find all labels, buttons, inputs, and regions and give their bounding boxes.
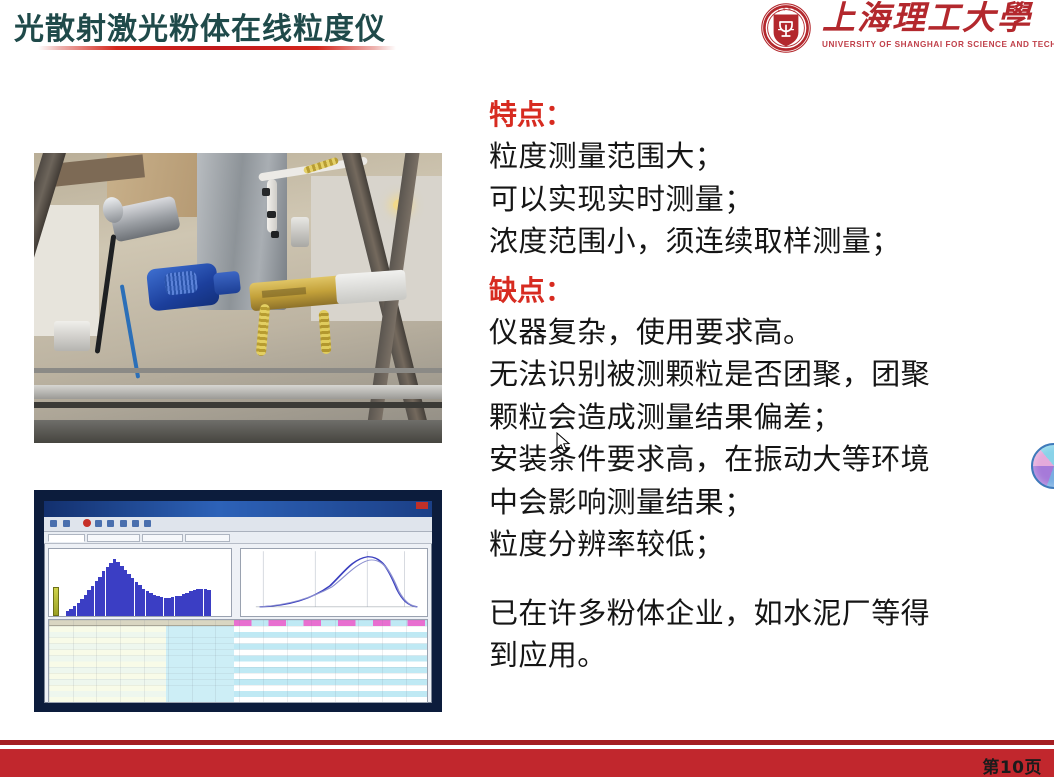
section-features: 特点： 粒度测量范围大； 可以实现实时测量； 浓度范围小，须连续取样测量； — [489, 96, 1037, 264]
section-features-heading: 特点： — [489, 96, 1037, 134]
feature-line-3: 浓度范围小，须连续取样测量； — [489, 221, 1037, 264]
histogram-chart — [48, 548, 232, 617]
svg-text:上: 上 — [777, 7, 780, 12]
page-number: 第10页 — [982, 753, 1042, 777]
section-spacer-2 — [489, 567, 1037, 593]
feature-line-1: 粒度测量范围大； — [489, 136, 1037, 179]
particle-size-software-screenshot — [34, 490, 442, 712]
slide-title: 光散射激光粉体在线粒度仪 — [14, 10, 444, 50]
measurement-data-table — [48, 619, 427, 703]
university-logo: 上海 理工 上海理工大學 UNIVERSITY OF SHANGHAI FOR … — [742, 0, 1054, 58]
section-spacer-1 — [489, 264, 1037, 272]
university-name-cn: 上海理工大學 — [822, 1, 1054, 38]
section-drawbacks-heading: 缺点： — [489, 272, 1037, 310]
footer-bar — [0, 749, 1054, 777]
university-name-en: UNIVERSITY OF SHANGHAI FOR SCIENCE AND T… — [822, 40, 1054, 49]
section-conclusion: 已在许多粉体企业，如水泥厂等得 到应用。 — [489, 593, 1037, 678]
conclusion-line-1: 已在许多粉体企业，如水泥厂等得 — [489, 593, 1037, 636]
section-drawbacks: 缺点： 仪器复杂，使用要求高。 无法识别被测颗粒是否团聚，团聚 颗粒会造成测量结… — [489, 272, 1037, 567]
drawback-line-5: 中会影响测量结果； — [489, 482, 1037, 525]
university-wordmark: 上海理工大學 UNIVERSITY OF SHANGHAI FOR SCIENC… — [822, 1, 1054, 49]
industrial-equipment-photo — [34, 153, 442, 443]
feature-line-2: 可以实现实时测量； — [489, 179, 1037, 222]
svg-text:工: 工 — [793, 8, 796, 12]
title-underline-decoration — [38, 46, 396, 50]
drawback-line-1: 仪器复杂，使用要求高。 — [489, 312, 1037, 355]
drawback-line-3: 颗粒会造成测量结果偏差； — [489, 397, 1037, 440]
content-column: 特点： 粒度测量范围大； 可以实现实时测量； 浓度范围小，须连续取样测量； 缺点… — [489, 96, 1037, 678]
slide-title-banner: 光散射激光粉体在线粒度仪 — [14, 10, 444, 58]
svg-text:理: 理 — [788, 6, 791, 11]
slide-canvas: 光散射激光粉体在线粒度仪 上海 理工 上海理工大學 UNIVERSITY OF … — [0, 0, 1054, 777]
conclusion-line-2: 到应用。 — [489, 635, 1037, 678]
cumulative-curve-chart — [240, 548, 428, 617]
drawback-line-2: 无法识别被测颗粒是否团聚，团聚 — [489, 354, 1037, 397]
svg-text:海: 海 — [782, 6, 785, 11]
university-seal-icon: 上海 理工 — [760, 2, 812, 58]
drawback-line-6: 粒度分辨率较低； — [489, 524, 1037, 567]
drawback-line-4: 安装条件要求高，在振动大等环境 — [489, 439, 1037, 482]
